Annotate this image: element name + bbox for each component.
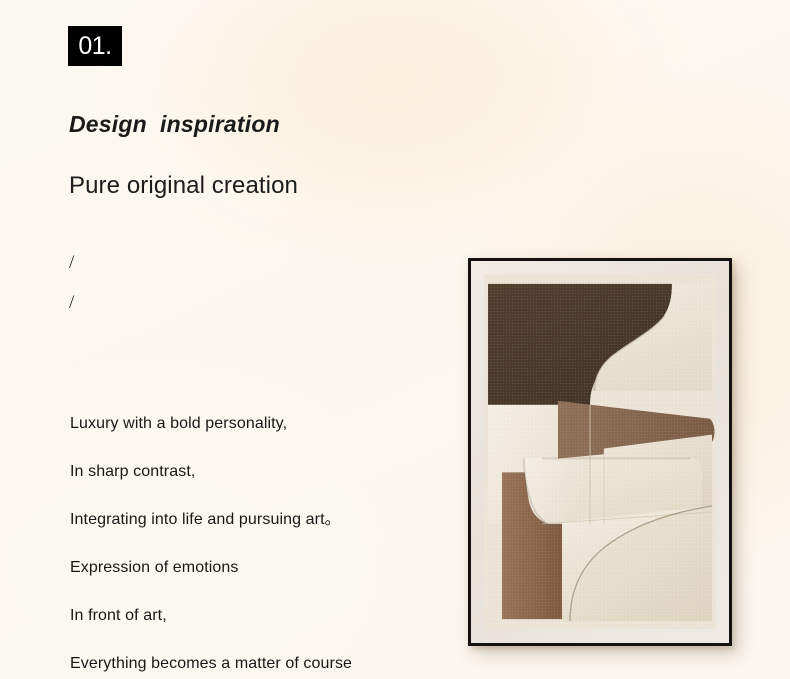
body-line: Expression of emotions (70, 544, 352, 592)
divider-marks: / / (69, 243, 74, 323)
artwork-frame (468, 258, 732, 646)
divider-mark-1: / (69, 243, 74, 283)
artwork-shapes (484, 274, 716, 629)
section-subheading: Pure original creation (69, 172, 298, 200)
body-line: In front of art, (70, 592, 352, 640)
section-number-badge: 01. (68, 26, 122, 66)
artwork-mat (471, 261, 729, 643)
divider-mark-2: / (69, 283, 74, 323)
page-root: 01. Design inspiration Pure original cre… (0, 0, 790, 679)
text-content-column: 01. Design inspiration Pure original cre… (0, 0, 460, 679)
body-line: Integrating into life and pursuing art。 (70, 496, 352, 544)
abstract-relief-artwork (484, 274, 716, 629)
body-line: In sharp contrast, (70, 448, 352, 496)
body-line: Everything becomes a matter of course (70, 640, 352, 679)
body-line: Luxury with a bold personality, (70, 400, 352, 448)
body-copy: Luxury with a bold personality, In sharp… (70, 400, 352, 679)
section-headline: Design inspiration (69, 111, 280, 138)
